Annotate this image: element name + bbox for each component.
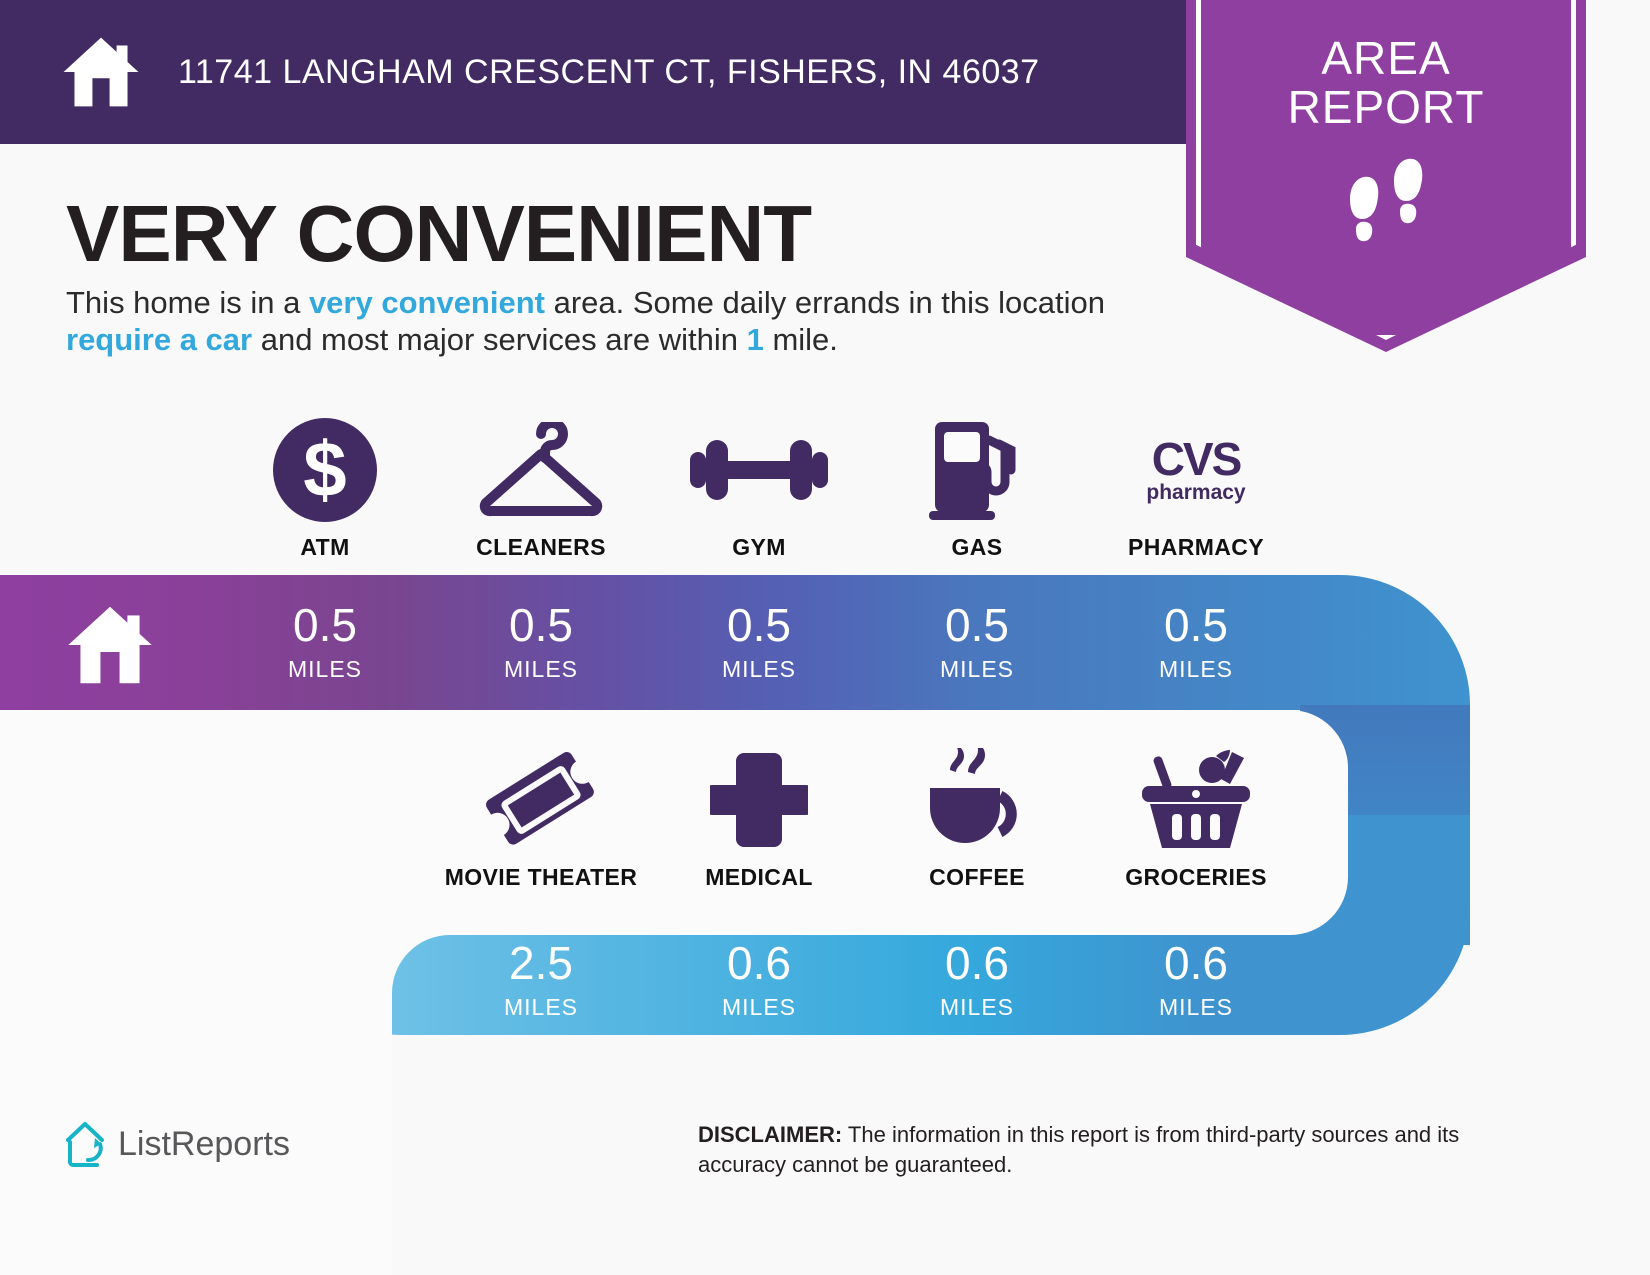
icon-cell-cleaners: CLEANERS bbox=[432, 420, 650, 561]
property-address: 11741 LANGHAM CRESCENT CT, FISHERS, IN 4… bbox=[178, 53, 1040, 92]
svg-text:CVS: CVS bbox=[1152, 433, 1241, 485]
icon-cell-movie-theater: MOVIE THEATER bbox=[432, 750, 650, 891]
icon-label: MOVIE THEATER bbox=[445, 864, 638, 891]
summary-highlight-transport: require a car bbox=[66, 322, 252, 357]
distance-cell-coffee: 0.6 MILES bbox=[868, 918, 1086, 1043]
dumbbell-icon bbox=[690, 420, 828, 520]
summary-part-2: area. Some daily errands in this locatio… bbox=[545, 285, 1105, 320]
icon-label: ATM bbox=[300, 534, 349, 561]
distance-unit: MILES bbox=[504, 656, 578, 683]
distance-unit: MILES bbox=[940, 994, 1014, 1021]
distance-cell-gas: 0.5 MILES bbox=[868, 575, 1086, 710]
distance-value: 0.5 bbox=[727, 602, 791, 648]
distance-unit: MILES bbox=[1159, 656, 1233, 683]
atm-dollar-icon: $ bbox=[273, 420, 377, 520]
icon-cell-groceries: GROCERIES bbox=[1086, 750, 1306, 891]
medical-cross-icon bbox=[710, 750, 808, 850]
icon-label: GAS bbox=[951, 534, 1002, 561]
distance-value: 0.6 bbox=[727, 940, 791, 986]
badge-line-2: REPORT bbox=[1186, 83, 1586, 132]
distance-cell-gym: 0.5 MILES bbox=[650, 575, 868, 710]
footprints-icon bbox=[1330, 155, 1442, 259]
disclaimer: DISCLAIMER: The information in this repo… bbox=[698, 1120, 1508, 1179]
icon-cell-atm: $ ATM bbox=[218, 420, 432, 561]
distance-value: 0.6 bbox=[945, 940, 1009, 986]
home-icon bbox=[62, 36, 140, 108]
hanger-icon bbox=[475, 420, 607, 520]
svg-text:pharmacy: pharmacy bbox=[1146, 481, 1246, 504]
icon-cell-coffee: COFFEE bbox=[868, 750, 1086, 891]
icon-label: PHARMACY bbox=[1128, 534, 1264, 561]
distance-value: 0.5 bbox=[945, 602, 1009, 648]
movie-ticket-icon bbox=[485, 750, 597, 850]
icon-label: COFFEE bbox=[929, 864, 1025, 891]
coffee-cup-icon bbox=[922, 750, 1032, 850]
badge-line-1: AREA bbox=[1186, 34, 1586, 83]
gas-pump-icon bbox=[927, 420, 1027, 520]
distance-value: 2.5 bbox=[509, 940, 573, 986]
distance-unit: MILES bbox=[504, 994, 578, 1021]
distance-value: 0.5 bbox=[1164, 602, 1228, 648]
icon-cell-gym: GYM bbox=[650, 420, 868, 561]
summary-highlight-convenience: very convenient bbox=[309, 285, 545, 320]
distance-cell-groceries: 0.6 MILES bbox=[1086, 918, 1306, 1043]
distance-cell-atm: 0.5 MILES bbox=[218, 575, 432, 710]
distance-cell-movie-theater: 2.5 MILES bbox=[432, 918, 650, 1043]
home-marker bbox=[60, 600, 160, 690]
icon-label: MEDICAL bbox=[705, 864, 813, 891]
distance-value: 0.5 bbox=[293, 602, 357, 648]
summary-part-4: mile. bbox=[764, 322, 838, 357]
icon-label: GROCERIES bbox=[1125, 864, 1267, 891]
icon-label: GYM bbox=[732, 534, 786, 561]
distance-cell-cleaners: 0.5 MILES bbox=[432, 575, 650, 710]
grocery-basket-icon bbox=[1140, 750, 1252, 850]
page-title: VERY CONVENIENT bbox=[66, 188, 811, 280]
icon-label: CLEANERS bbox=[476, 534, 606, 561]
summary-part-1: This home is in a bbox=[66, 285, 309, 320]
distance-unit: MILES bbox=[722, 656, 796, 683]
icon-cell-gas: GAS bbox=[868, 420, 1086, 561]
listreports-house-icon bbox=[62, 1118, 108, 1170]
disclaimer-label: DISCLAIMER: bbox=[698, 1122, 842, 1147]
header-bar: 11741 LANGHAM CRESCENT CT, FISHERS, IN 4… bbox=[0, 0, 1186, 144]
icon-cell-medical: MEDICAL bbox=[650, 750, 868, 891]
distance-cell-pharmacy: 0.5 MILES bbox=[1086, 575, 1306, 710]
distance-unit: MILES bbox=[288, 656, 362, 683]
home-icon bbox=[65, 605, 155, 685]
distance-unit: MILES bbox=[1159, 994, 1233, 1021]
cvs-pharmacy-logo: CVS pharmacy bbox=[1126, 420, 1266, 520]
summary-part-3: and most major services are within bbox=[252, 322, 746, 357]
distance-value: 0.6 bbox=[1164, 940, 1228, 986]
listreports-logo: ListReports bbox=[62, 1118, 290, 1170]
distance-unit: MILES bbox=[940, 656, 1014, 683]
summary-highlight-distance: 1 bbox=[747, 322, 764, 357]
area-report-badge: AREA REPORT bbox=[1186, 0, 1586, 352]
icon-cell-pharmacy: CVS pharmacy PHARMACY bbox=[1086, 420, 1306, 561]
area-report-infographic: 11741 LANGHAM CRESCENT CT, FISHERS, IN 4… bbox=[0, 0, 1650, 1275]
distance-value: 0.5 bbox=[509, 602, 573, 648]
svg-text:$: $ bbox=[303, 425, 346, 513]
distance-cell-medical: 0.6 MILES bbox=[650, 918, 868, 1043]
summary-description: This home is in a very convenient area. … bbox=[66, 285, 1116, 358]
logo-text: ListReports bbox=[118, 1125, 290, 1164]
distance-unit: MILES bbox=[722, 994, 796, 1021]
badge-title: AREA REPORT bbox=[1186, 34, 1586, 132]
